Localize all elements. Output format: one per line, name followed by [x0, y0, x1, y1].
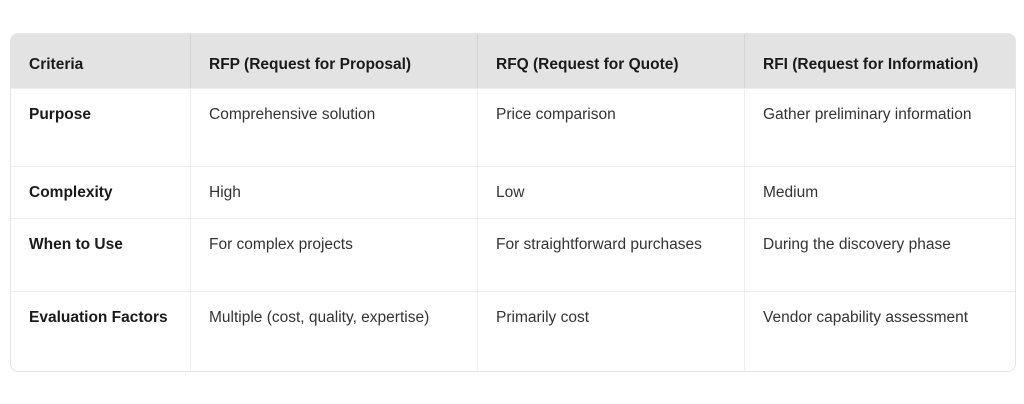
cell-complexity-rfi: Medium — [745, 166, 1015, 218]
cell-purpose-rfq: Price comparison — [478, 88, 745, 166]
row-label-purpose: Purpose — [11, 88, 191, 166]
cell-evaluation-factors-rfi: Vendor capability assessment — [745, 291, 1015, 371]
cell-purpose-rfi: Gather preliminary information — [745, 88, 1015, 166]
table-header-row: Criteria RFP (Request for Proposal) RFQ … — [11, 34, 1015, 88]
cell-evaluation-factors-rfp: Multiple (cost, quality, expertise) — [191, 291, 478, 371]
cell-evaluation-factors-rfq: Primarily cost — [478, 291, 745, 371]
table-row: Evaluation Factors Multiple (cost, quali… — [11, 291, 1015, 371]
table-row: Complexity High Low Medium — [11, 166, 1015, 218]
row-label-evaluation-factors: Evaluation Factors — [11, 291, 191, 371]
cell-purpose-rfp: Comprehensive solution — [191, 88, 478, 166]
column-header-criteria: Criteria — [11, 34, 191, 88]
row-label-when-to-use: When to Use — [11, 218, 191, 291]
row-label-complexity: Complexity — [11, 166, 191, 218]
rfp-rfq-rfi-comparison-table: Criteria RFP (Request for Proposal) RFQ … — [10, 33, 1016, 372]
cell-when-to-use-rfp: For complex projects — [191, 218, 478, 291]
comparison-table-container: Criteria RFP (Request for Proposal) RFQ … — [10, 33, 1014, 372]
column-header-rfi: RFI (Request for Information) — [745, 34, 1015, 88]
cell-complexity-rfq: Low — [478, 166, 745, 218]
column-header-rfp: RFP (Request for Proposal) — [191, 34, 478, 88]
column-header-rfq: RFQ (Request for Quote) — [478, 34, 745, 88]
cell-when-to-use-rfq: For straightforward purchases — [478, 218, 745, 291]
table-row: When to Use For complex projects For str… — [11, 218, 1015, 291]
cell-when-to-use-rfi: During the discovery phase — [745, 218, 1015, 291]
table-row: Purpose Comprehensive solution Price com… — [11, 88, 1015, 166]
cell-complexity-rfp: High — [191, 166, 478, 218]
table-body: Purpose Comprehensive solution Price com… — [11, 88, 1015, 371]
table-header: Criteria RFP (Request for Proposal) RFQ … — [11, 34, 1015, 88]
